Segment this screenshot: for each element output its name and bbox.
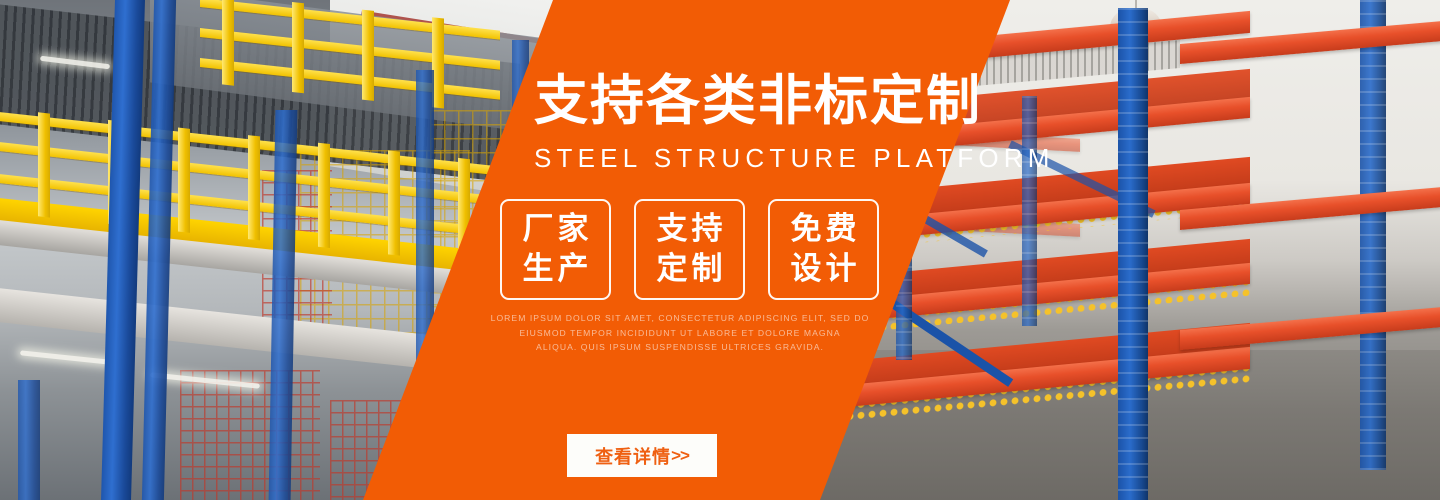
badge-line-1: 支持: [653, 211, 727, 248]
view-details-label: 查看详情: [595, 443, 671, 469]
badge-line-2: 设计: [787, 251, 861, 288]
view-details-button[interactable]: 查看详情 >>: [567, 434, 717, 477]
feature-badge-manufacturer: 厂家 生产: [500, 199, 611, 300]
badge-line-2: 定制: [653, 251, 727, 288]
description-line-2: EIUSMOD TEMPOR INCIDIDUNT UT LABORE ET D…: [480, 326, 880, 341]
promo-banner: 支持各类非标定制 STEEL STRUCTURE PLATFORM 厂家 生产 …: [0, 0, 1440, 500]
badge-line-1: 厂家: [519, 211, 593, 248]
feature-badge-customization: 支持 定制: [634, 199, 745, 300]
feature-badge-free-design: 免费 设计: [768, 199, 879, 300]
page-title: 支持各类非标定制: [534, 74, 982, 128]
feature-badge-group: 厂家 生产 支持 定制 免费 设计: [500, 199, 879, 300]
double-chevron-right-icon: >>: [671, 446, 689, 466]
subtitle: STEEL STRUCTURE PLATFORM: [534, 145, 1055, 171]
banner-content: 支持各类非标定制 STEEL STRUCTURE PLATFORM 厂家 生产 …: [0, 0, 1440, 500]
badge-line-1: 免费: [787, 211, 861, 248]
description-line-3: ALIQUA. QUIS IPSUM SUSPENDISSE ULTRICES …: [480, 340, 880, 355]
description-text: LOREM IPSUM DOLOR SIT AMET, CONSECTETUR …: [480, 311, 880, 355]
description-line-1: LOREM IPSUM DOLOR SIT AMET, CONSECTETUR …: [480, 311, 880, 326]
badge-line-2: 生产: [519, 251, 593, 288]
